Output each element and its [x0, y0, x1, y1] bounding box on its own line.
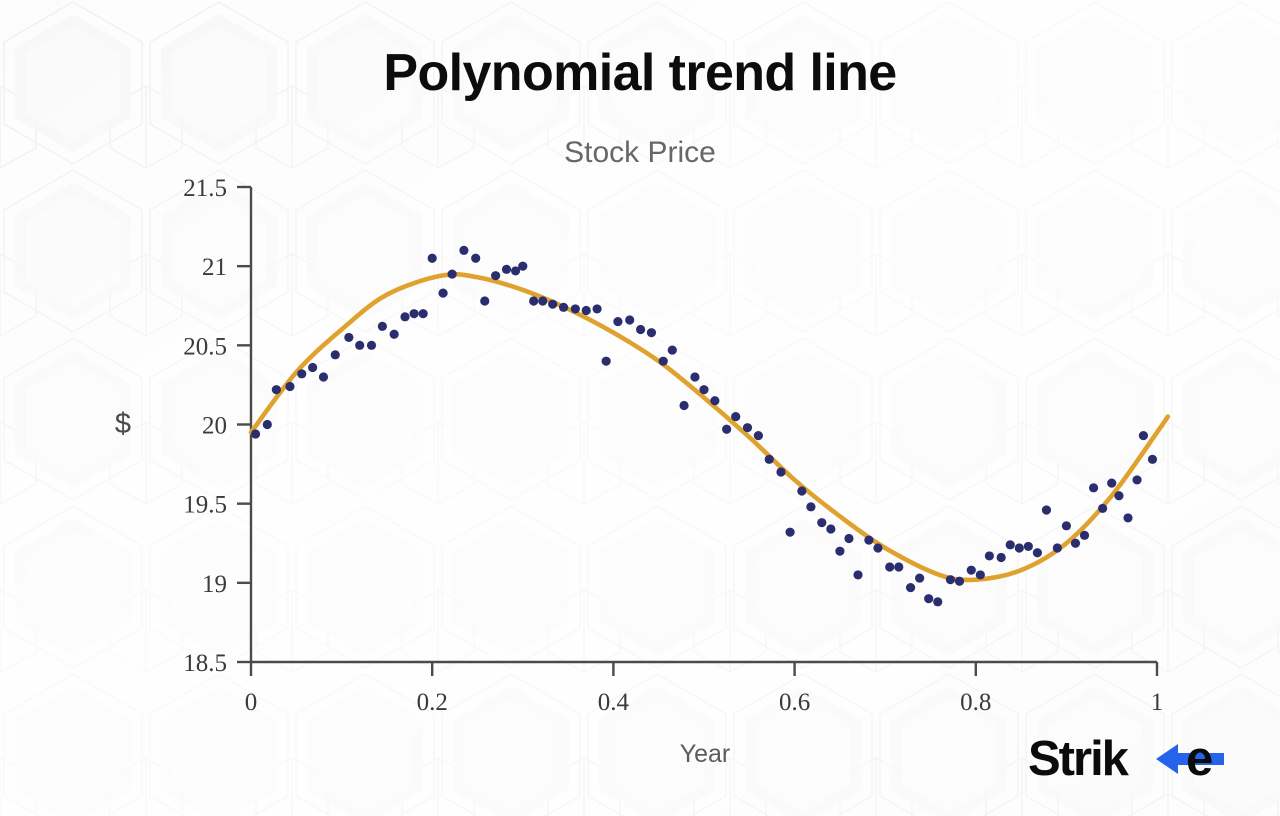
scatter-point — [826, 524, 835, 533]
scatter-point — [1015, 543, 1024, 552]
scatter-point — [1033, 548, 1042, 557]
scatter-point — [602, 357, 611, 366]
scatter-point — [571, 304, 580, 313]
scatter-point — [1071, 539, 1080, 548]
scatter-point — [559, 303, 568, 312]
scatter-point — [1148, 455, 1157, 464]
scatter-point — [331, 350, 340, 359]
scatter-point — [1042, 505, 1051, 514]
scatter-point — [806, 502, 815, 511]
scatter-point — [319, 372, 328, 381]
y-tick-label: 20.5 — [183, 333, 227, 360]
x-tick-label: 0.2 — [417, 689, 448, 716]
scatter-points-group — [251, 246, 1157, 607]
scatter-point — [518, 262, 527, 271]
scatter-point — [438, 288, 447, 297]
scatter-point — [378, 322, 387, 331]
scatter-point — [1006, 540, 1015, 549]
scatter-point — [985, 551, 994, 560]
scatter-point — [251, 429, 260, 438]
scatter-point — [297, 369, 306, 378]
scatter-point — [1132, 475, 1141, 484]
scatter-point — [710, 396, 719, 405]
scatter-point — [1114, 491, 1123, 500]
x-tick-label: 0.4 — [598, 689, 630, 716]
scatter-point — [419, 309, 428, 318]
scatter-point — [1080, 531, 1089, 540]
scatter-point — [1053, 543, 1062, 552]
scatter-point — [480, 296, 489, 305]
scatter-point — [743, 423, 752, 432]
scatter-point — [659, 357, 668, 366]
scatter-point — [894, 562, 903, 571]
scatter-point — [471, 254, 480, 263]
scatter-point — [582, 306, 591, 315]
scatter-point — [885, 562, 894, 571]
scatter-point — [367, 341, 376, 350]
scatter-point — [459, 246, 468, 255]
x-tick-label: 0 — [245, 689, 258, 716]
y-tick-label: 18.5 — [183, 650, 227, 677]
y-tick-labels: 18.51919.52020.52121.5 — [183, 175, 227, 677]
scatter-point — [853, 570, 862, 579]
axis-spines — [251, 187, 1157, 662]
scatter-point — [409, 309, 418, 318]
scatter-point — [924, 594, 933, 603]
scatter-point — [776, 467, 785, 476]
scatter-point — [668, 345, 677, 354]
y-tick-label: 20 — [202, 413, 227, 440]
scatter-point — [731, 412, 740, 421]
scatter-point — [1024, 542, 1033, 551]
scatter-point — [647, 328, 656, 337]
scatter-point — [285, 382, 294, 391]
scatter-point — [835, 547, 844, 556]
scatter-point — [955, 577, 964, 586]
x-tick-label: 1 — [1151, 689, 1164, 716]
scatter-point — [428, 254, 437, 263]
scatter-point — [679, 401, 688, 410]
plot-area: 18.51919.52020.52121.5 00.20.40.60.81 — [0, 0, 1280, 816]
axes-group — [251, 187, 1157, 662]
scatter-point — [1123, 513, 1132, 522]
scatter-point — [344, 333, 353, 342]
trend-line-group — [251, 274, 1168, 580]
logo-text-e: e — [1186, 732, 1212, 786]
scatter-point — [873, 543, 882, 552]
chart-page: Polynomial trend line Stock Price $ Year… — [0, 0, 1280, 816]
scatter-point — [1107, 478, 1116, 487]
scatter-point — [538, 296, 547, 305]
scatter-point — [906, 583, 915, 592]
strike-logo: Strik e — [1028, 730, 1238, 788]
scatter-point — [997, 553, 1006, 562]
scatter-point — [263, 420, 272, 429]
scatter-point — [976, 570, 985, 579]
scatter-point — [1062, 521, 1071, 530]
scatter-point — [548, 300, 557, 309]
scatter-point — [864, 535, 873, 544]
scatter-point — [390, 330, 399, 339]
scatter-point — [754, 431, 763, 440]
x-tick-label: 0.6 — [779, 689, 810, 716]
x-tick-label: 0.8 — [960, 689, 991, 716]
scatter-point — [491, 271, 500, 280]
scatter-point — [272, 385, 281, 394]
scatter-point — [308, 363, 317, 372]
tick-marks-group — [237, 187, 1157, 676]
x-tick-labels: 00.20.40.60.81 — [245, 689, 1164, 716]
scatter-point — [625, 315, 634, 324]
scatter-point — [785, 528, 794, 537]
logo-text-strike: Strik — [1028, 732, 1130, 786]
scatter-point — [355, 341, 364, 350]
scatter-point — [946, 575, 955, 584]
scatter-point — [1098, 504, 1107, 513]
scatter-point — [636, 325, 645, 334]
y-tick-label: 19.5 — [183, 492, 227, 519]
chart-layer: Polynomial trend line Stock Price $ Year… — [0, 0, 1280, 816]
polynomial-trend-line — [251, 274, 1168, 580]
y-tick-label: 21 — [202, 254, 227, 281]
scatter-point — [797, 486, 806, 495]
scatter-point — [1139, 431, 1148, 440]
scatter-point — [448, 269, 457, 278]
y-tick-label: 19 — [202, 571, 227, 598]
scatter-point — [592, 304, 601, 313]
scatter-point — [844, 534, 853, 543]
scatter-point — [690, 372, 699, 381]
scatter-point — [699, 385, 708, 394]
scatter-point — [817, 518, 826, 527]
scatter-point — [765, 455, 774, 464]
scatter-point — [933, 597, 942, 606]
y-tick-label: 21.5 — [183, 175, 227, 202]
scatter-point — [915, 573, 924, 582]
scatter-point — [1089, 483, 1098, 492]
scatter-point — [722, 425, 731, 434]
scatter-point — [502, 265, 511, 274]
scatter-point — [529, 296, 538, 305]
scatter-point — [400, 312, 409, 321]
scatter-point — [613, 317, 622, 326]
scatter-point — [967, 566, 976, 575]
